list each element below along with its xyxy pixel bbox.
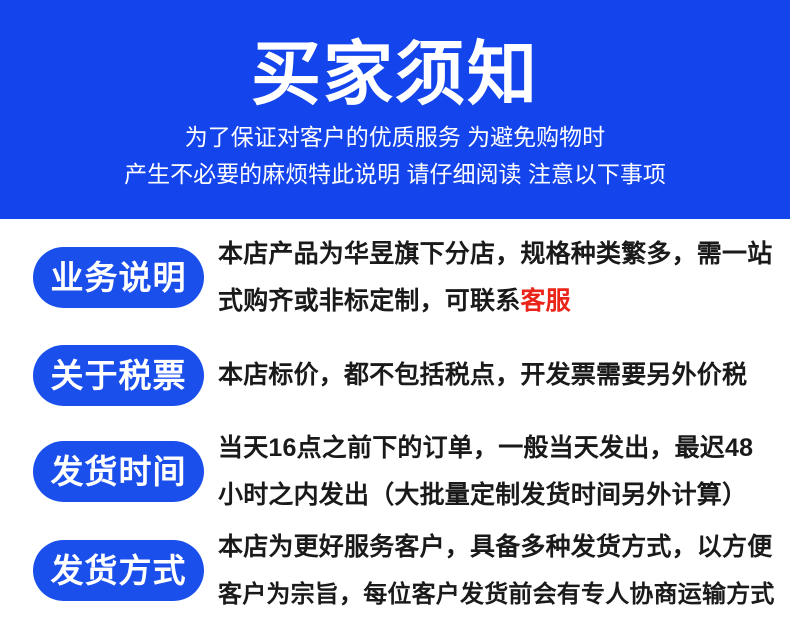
notice-row: 关于税票 本店标价，都不包括税点，开发票需要另外价税 [0,323,790,419]
row-body-line-2: 客户为宗旨，每位客户发货前会有专人协商运输方式 [218,571,783,618]
header-subtitle-line-2: 产生不必要的麻烦特此说明 请仔细阅读 注意以下事项 [0,159,790,189]
notice-row: 发货方式 本店为更好服务客户，具备多种发货方式，以方便 客户为宗旨，每位客户发货… [0,519,790,629]
notice-row: 业务说明 本店产品为华昱旗下分店，规格种类繁多，需一站 式购齐或非标定制，可联系… [0,219,790,329]
row-body-line-2: 小时之内发出（大批量定制发货时间另外计算） [218,472,778,519]
row-body-text: 当天16点之前下的订单，一般当天发出，最迟48 小时之内发出（大批量定制发货时间… [218,425,778,519]
row-body-line-1: 本店为更好服务客户，具备多种发货方式，以方便 [218,524,783,571]
notice-row: 发货时间 当天16点之前下的订单，一般当天发出，最迟48 小时之内发出（大批量定… [0,419,790,529]
customer-service-link[interactable]: 客服 [520,287,570,315]
pill-label-text: 发货时间 [51,455,187,489]
pill-label-text: 发货方式 [51,554,187,588]
row-label-pill-business[interactable]: 业务说明 [33,247,204,308]
row-label-pill-shipping-time[interactable]: 发货时间 [33,441,204,502]
row-label-pill-tax[interactable]: 关于税票 [33,345,204,406]
page-title: 买家须知 [0,32,790,116]
row-body-line-2-prefix: 式购齐或非标定制，可联系 [218,287,520,315]
pill-label-text: 关于税票 [51,359,187,393]
buyer-notice-page: 买家须知 为了保证对客户的优质服务 为避免购物时 产生不必要的麻烦特此说明 请仔… [0,0,790,615]
pill-label-text: 业务说明 [51,261,187,295]
row-body-text: 本店产品为华昱旗下分店，规格种类繁多，需一站 式购齐或非标定制，可联系客服 [218,231,778,325]
row-label-pill-shipping-method[interactable]: 发货方式 [33,540,204,601]
row-body-line-2: 式购齐或非标定制，可联系客服 [218,278,778,325]
row-body-text: 本店标价，都不包括税点，开发票需要另外价税 [218,352,778,399]
header-banner: 买家须知 为了保证对客户的优质服务 为避免购物时 产生不必要的麻烦特此说明 请仔… [0,0,790,219]
row-body-line-1: 本店产品为华昱旗下分店，规格种类繁多，需一站 [218,231,778,278]
row-body-line-1: 当天16点之前下的订单，一般当天发出，最迟48 [218,425,778,472]
row-body-line-1: 本店标价，都不包括税点，开发票需要另外价税 [218,352,778,399]
row-body-text: 本店为更好服务客户，具备多种发货方式，以方便 客户为宗旨，每位客户发货前会有专人… [218,524,783,618]
header-subtitle-line-1: 为了保证对客户的优质服务 为避免购物时 [0,122,790,152]
